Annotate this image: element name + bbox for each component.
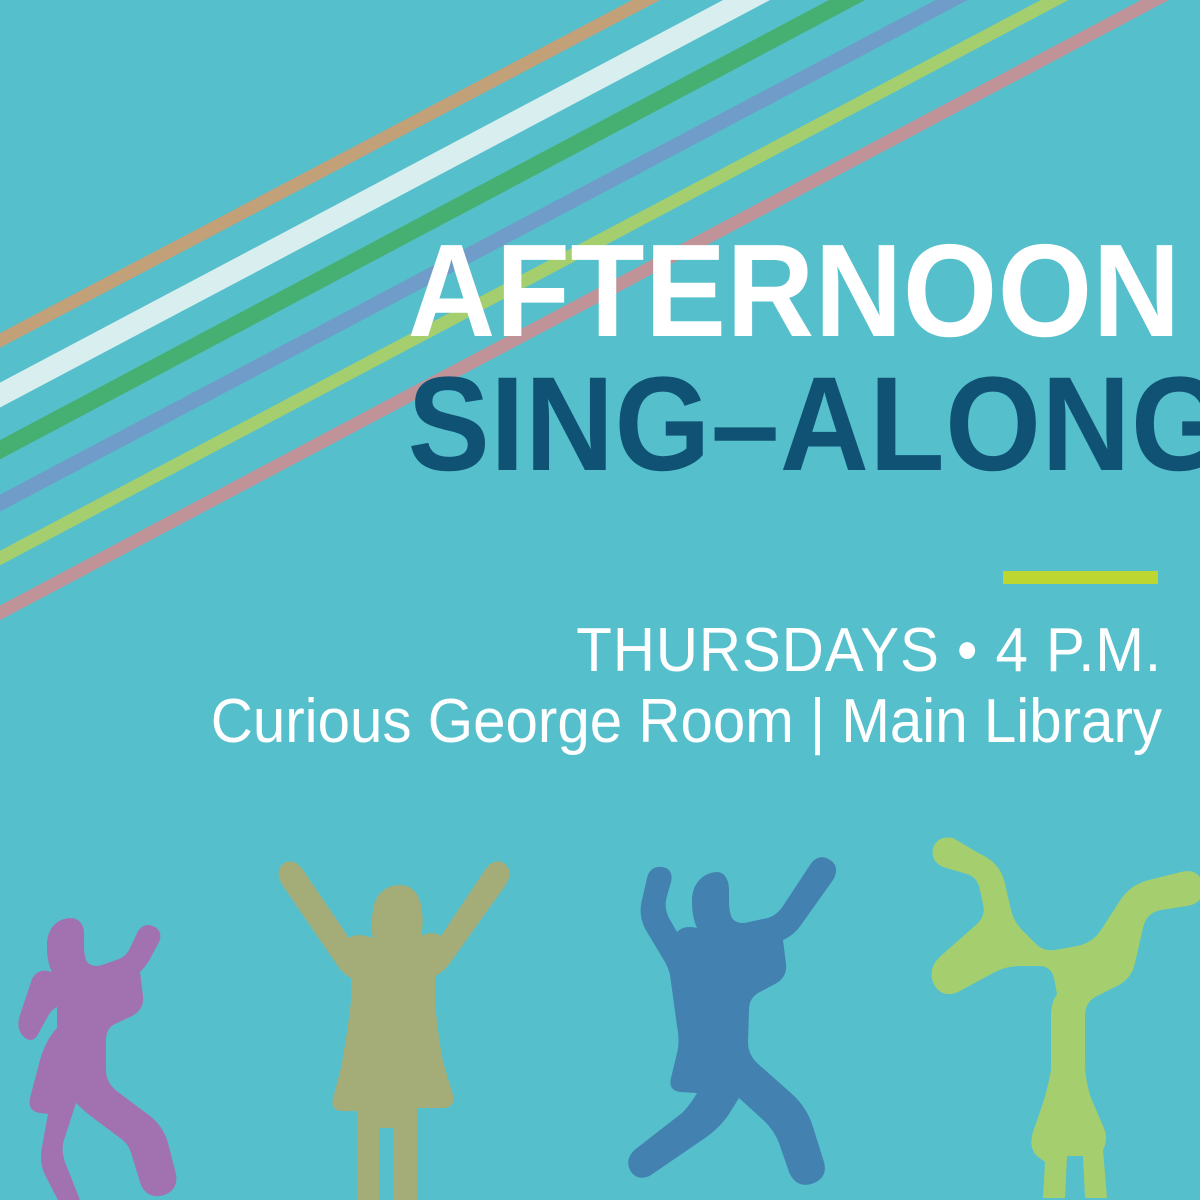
event-schedule-text: THURSDAYS • 4 P.M. bbox=[109, 618, 1162, 685]
event-details-block: THURSDAYS • 4 P.M. Curious George Room |… bbox=[42, 618, 1162, 756]
children-silhouettes-group bbox=[0, 800, 1200, 1200]
headline-block: AFTERNOON SING–ALONG bbox=[342, 228, 1162, 489]
poster-canvas: AFTERNOON SING–ALONG THURSDAYS • 4 P.M. … bbox=[0, 0, 1200, 1200]
accent-rule bbox=[1003, 571, 1158, 584]
page-title-line-1: AFTERNOON bbox=[408, 228, 1162, 353]
child-handstand-silhouette bbox=[905, 820, 1200, 1200]
child-runner-silhouette bbox=[10, 900, 230, 1200]
page-title-line-2: SING–ALONG bbox=[408, 361, 1162, 488]
child-cheering-silhouette bbox=[275, 840, 525, 1200]
child-jumping-silhouette bbox=[625, 850, 905, 1200]
event-location-text: Curious George Room | Main Library bbox=[109, 689, 1162, 756]
